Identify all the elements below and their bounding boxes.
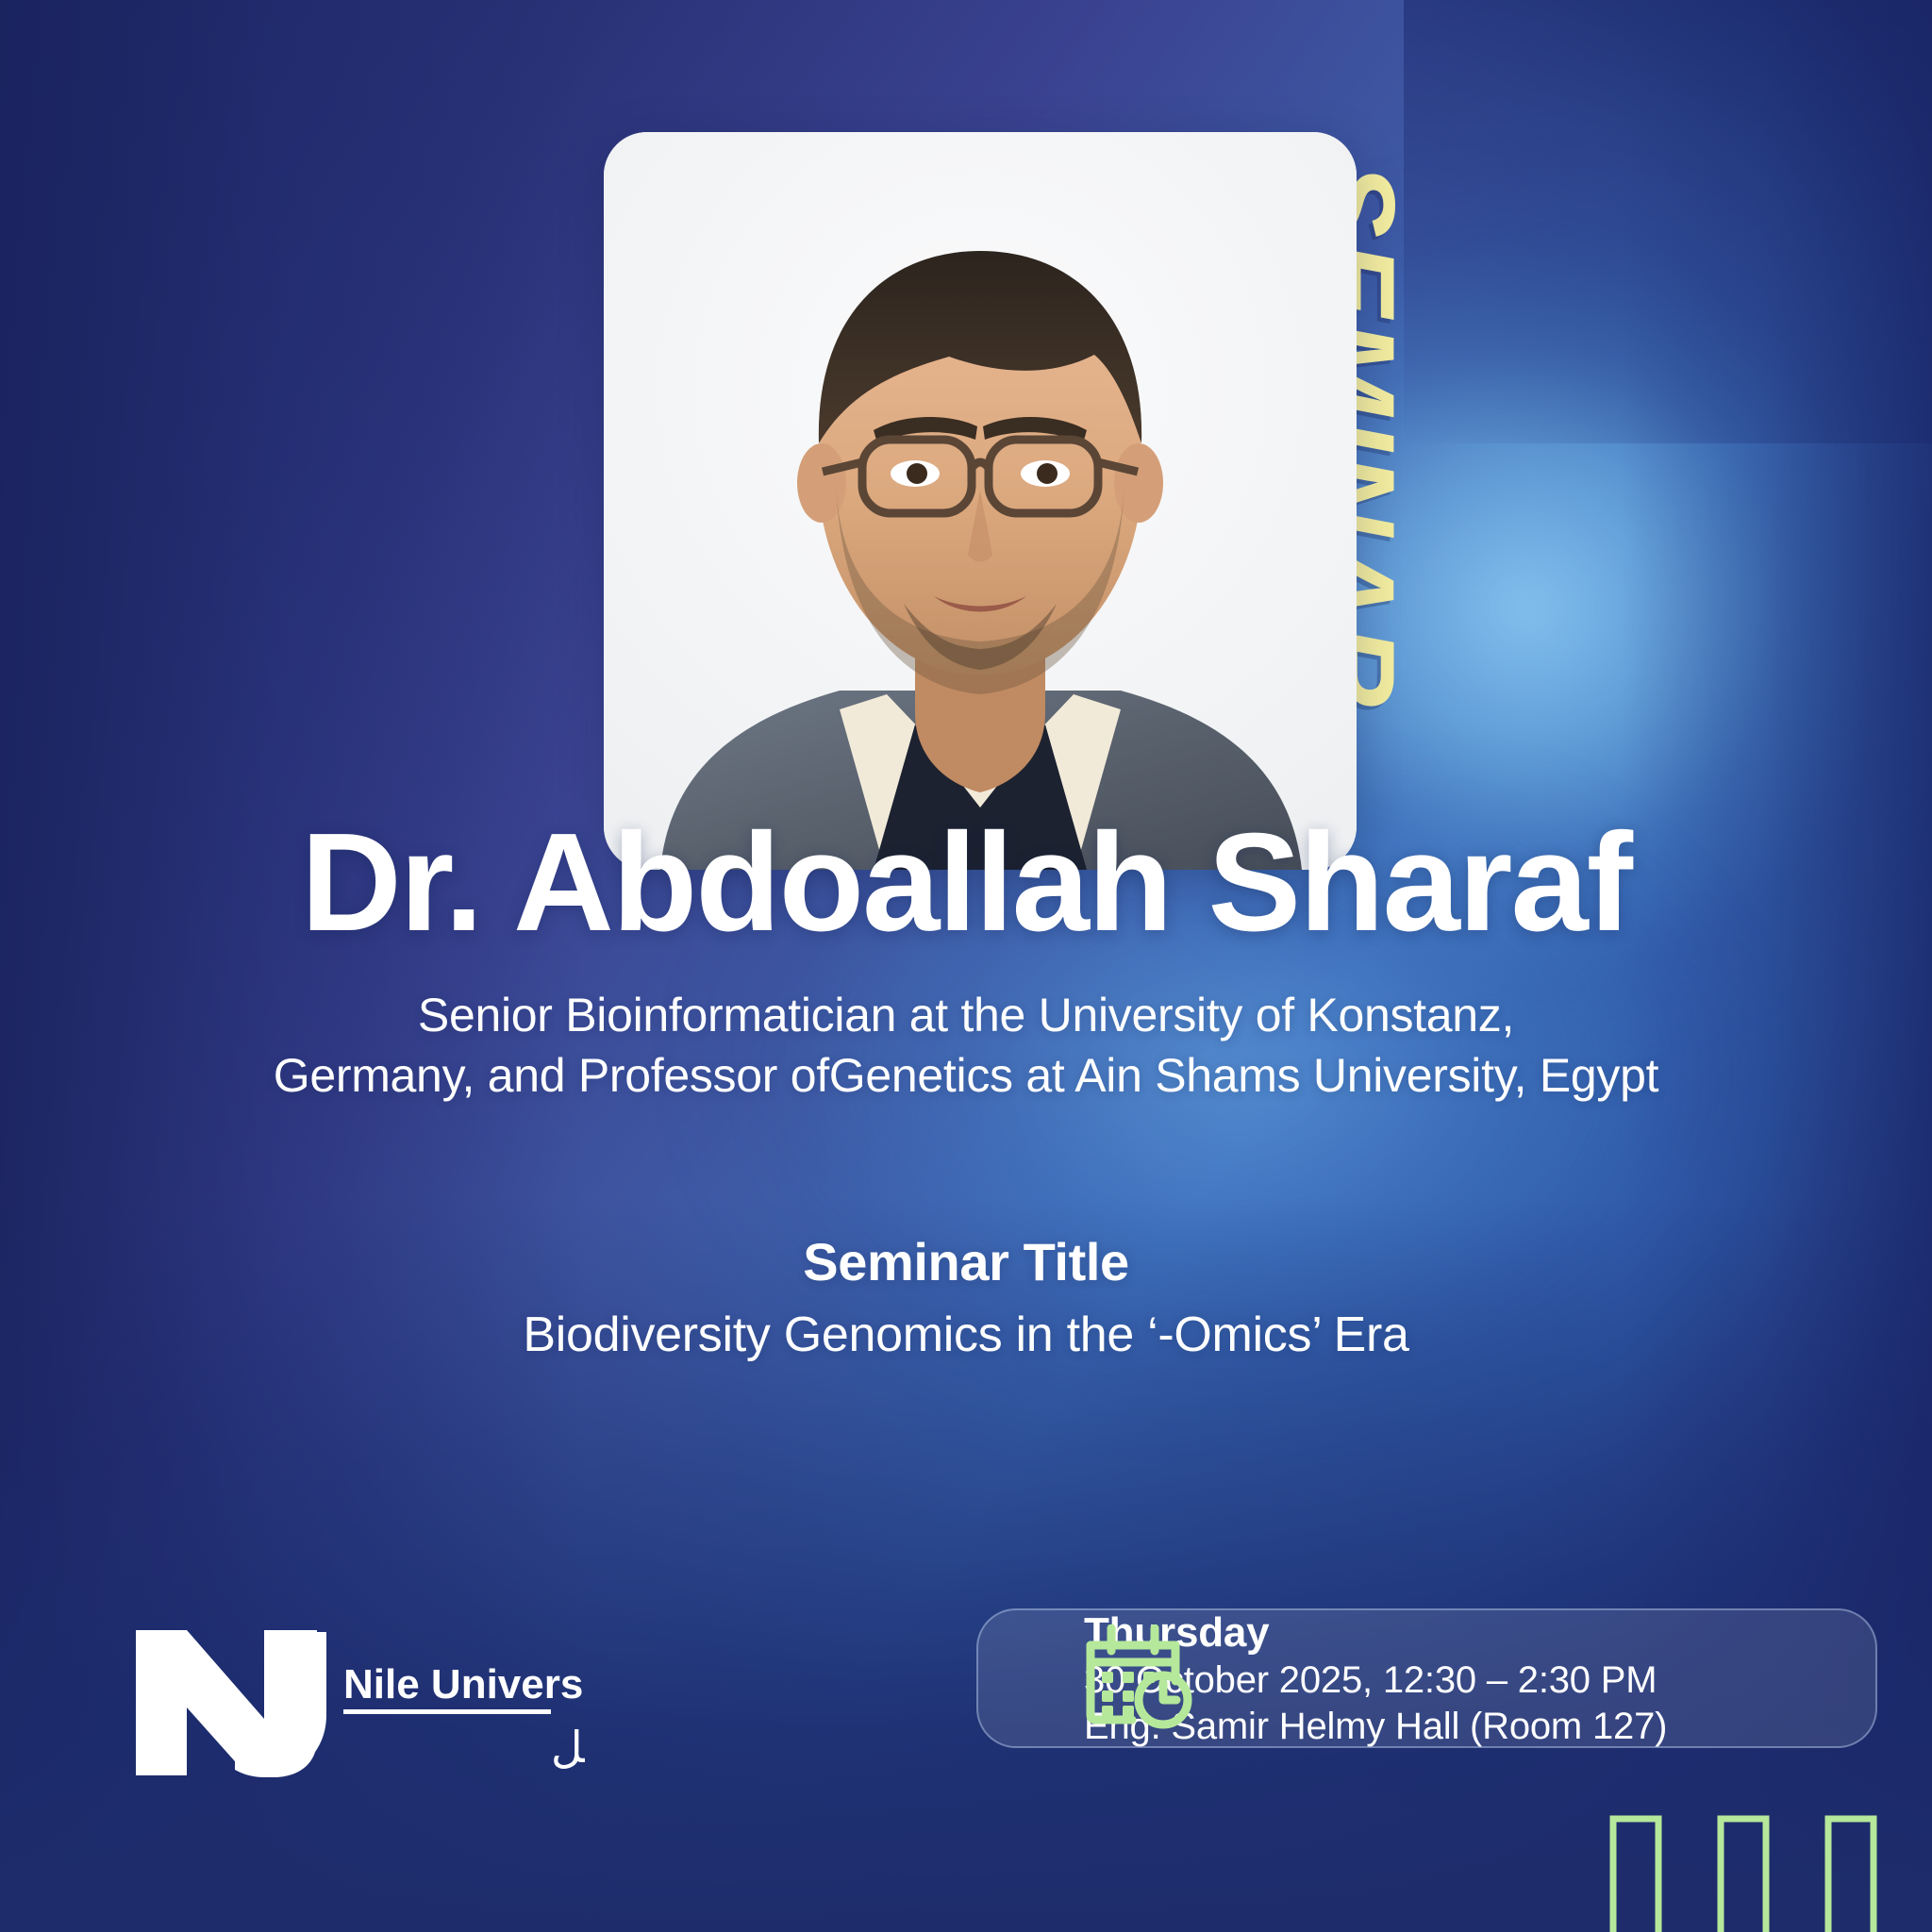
speaker-affiliation: Senior Bioinformatician at the Universit… bbox=[85, 986, 1847, 1106]
decorative-bars-graphic bbox=[1596, 1809, 1907, 1932]
seminar-title-label: Seminar Title bbox=[0, 1231, 1932, 1292]
speaker-affiliation-line2: Germany, and Professor ofGenetics at Ain… bbox=[85, 1046, 1847, 1107]
calendar-clock-icon bbox=[1083, 1624, 1194, 1732]
speaker-affiliation-line1: Senior Bioinformatician at the Universit… bbox=[85, 986, 1847, 1046]
nile-university-logo: Nile University جامعة النيل bbox=[132, 1621, 585, 1781]
logo-graphic: Nile University جامعة النيل bbox=[132, 1621, 585, 1781]
logo-name-en: Nile University bbox=[343, 1661, 585, 1707]
logo-divider bbox=[343, 1709, 551, 1714]
speaker-name: Dr. Abdoallah Sharaf bbox=[0, 813, 1932, 953]
speaker-photo bbox=[604, 132, 1357, 870]
calendar-clock-glyph bbox=[1083, 1624, 1194, 1732]
seminar-poster: SEMINAR bbox=[0, 0, 1932, 1932]
logo-name-ar: جامعة النيل bbox=[551, 1722, 585, 1773]
decorative-bars bbox=[1596, 1809, 1907, 1932]
seminar-title-text: Biodiversity Genomics in the ‘-Omics’ Er… bbox=[0, 1307, 1932, 1363]
speaker-portrait-card bbox=[604, 132, 1357, 870]
